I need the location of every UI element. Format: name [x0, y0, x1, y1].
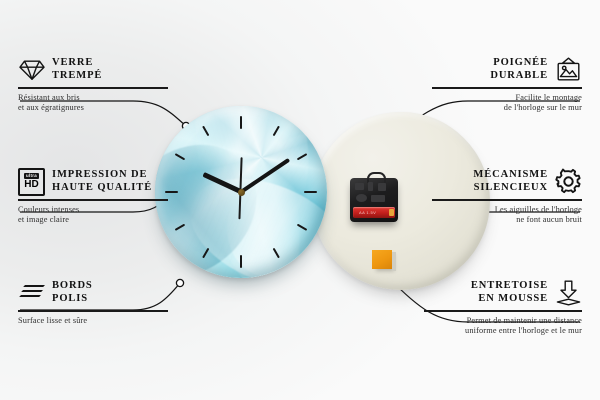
feature-divider	[432, 87, 582, 89]
feature-subtitle-line: Facilite le montage	[432, 93, 582, 103]
feature-header: BORDS POLIS	[18, 279, 168, 306]
feature-subtitle-line: Surface lisse et sûre	[18, 316, 168, 326]
gear-icon	[555, 168, 582, 195]
ultra-hd-top-label: ultra	[24, 173, 39, 178]
feature-title-line: SILENCIEUX	[473, 182, 548, 195]
feature-divider	[18, 87, 168, 89]
feature-title-line: EN MOUSSE	[471, 293, 548, 306]
feature-title: IMPRESSION DE HAUTE QUALITÉ	[52, 169, 152, 194]
feature-subtitle: Surface lisse et sûre	[18, 316, 168, 326]
feature-title: VERRE TREMPÉ	[52, 57, 102, 82]
diamond-icon	[18, 56, 45, 83]
feature-subtitle-line: ne font aucun bruit	[432, 215, 582, 225]
feature-divider	[18, 199, 168, 201]
feature-subtitle: Couleurs intenses et image claire	[18, 205, 168, 226]
feature-header: ultra HD IMPRESSION DE HAUTE QUALITÉ	[18, 168, 168, 195]
feature-title-line: DURABLE	[490, 70, 548, 83]
feature-subtitle-line: Permet de maintenir une distance	[424, 316, 582, 326]
feature-bords-polis: BORDS POLIS Surface lisse et sûre	[18, 279, 168, 326]
feature-subtitle-line: uniforme entre l'horloge et le mur	[424, 326, 582, 336]
feature-title-line: POIGNÉE	[490, 57, 548, 70]
diagonal-lines-glyph	[20, 285, 44, 299]
ultra-hd-badge: ultra HD	[18, 168, 45, 196]
feature-entretoise-en-mousse: ENTRETOISE EN MOUSSE Permet de maintenir…	[424, 279, 582, 336]
feature-subtitle-line: Résistant aux bris	[18, 93, 168, 103]
foam-spacer-side	[392, 252, 396, 271]
connector-dot-bords-polis	[176, 279, 183, 286]
feature-impression-haute-qualite: ultra HD IMPRESSION DE HAUTE QUALITÉ Cou…	[18, 168, 168, 225]
feature-header: ENTRETOISE EN MOUSSE	[424, 279, 582, 306]
mechanism-battery: AA 1.5V	[353, 207, 395, 218]
feature-title: POIGNÉE DURABLE	[490, 57, 548, 82]
clock-front-face	[155, 106, 327, 278]
hanging-picture-icon	[555, 56, 582, 83]
feature-divider	[18, 310, 168, 312]
mechanism-detail	[378, 183, 386, 191]
feature-title-line: VERRE	[52, 57, 102, 70]
feature-verre-trempe: VERRE TREMPÉ Résistant aux bris et aux é…	[18, 56, 168, 113]
mechanism-detail	[368, 182, 373, 191]
battery-terminal	[389, 209, 394, 216]
ultra-hd-icon: ultra HD	[18, 168, 45, 195]
mechanism-detail	[371, 195, 385, 202]
feature-title-line: ENTRETOISE	[471, 280, 548, 293]
feature-subtitle-line: et image claire	[18, 215, 168, 225]
feature-subtitle-line: Les aiguilles de l'horloge	[432, 205, 582, 215]
feature-subtitle-line: de l'horloge sur le mur	[432, 103, 582, 113]
feature-title: MÉCANISME SILENCIEUX	[473, 169, 548, 194]
feature-header: MÉCANISME SILENCIEUX	[432, 168, 582, 195]
clock-tick	[165, 191, 241, 193]
feature-divider	[432, 199, 582, 201]
feature-title: BORDS POLIS	[52, 280, 93, 305]
ultra-hd-main-label: HD	[24, 180, 38, 190]
feature-title-line: POLIS	[52, 293, 93, 306]
feature-title-line: HAUTE QUALITÉ	[52, 182, 152, 195]
foam-spacer	[372, 250, 392, 269]
battery-label: AA 1.5V	[359, 210, 376, 215]
feature-subtitle: Les aiguilles de l'horloge ne font aucun…	[432, 205, 582, 226]
feature-poignee-durable: POIGNÉE DURABLE Facilite le montage de l…	[432, 56, 582, 113]
infographic-canvas: AA 1.5V	[0, 0, 600, 400]
arrow-down-pad-icon	[555, 279, 582, 306]
feature-subtitle: Facilite le montage de l'horloge sur le …	[432, 93, 582, 114]
clock-tick	[241, 191, 317, 193]
feature-subtitle-line: et aux égratignures	[18, 103, 168, 113]
mechanism-detail	[356, 194, 367, 202]
clock-center-cap	[238, 189, 245, 196]
feature-subtitle: Résistant aux bris et aux égratignures	[18, 93, 168, 114]
feature-title-line: IMPRESSION DE	[52, 169, 152, 182]
feature-header: POIGNÉE DURABLE	[432, 56, 582, 83]
clock-mechanism: AA 1.5V	[350, 178, 398, 222]
feature-mecanisme-silencieux: MÉCANISME SILENCIEUX Les aiguilles de l'…	[432, 168, 582, 225]
feature-title-line: BORDS	[52, 280, 93, 293]
feature-subtitle: Permet de maintenir une distance uniform…	[424, 316, 582, 337]
feature-title-line: MÉCANISME	[473, 169, 548, 182]
feature-header: VERRE TREMPÉ	[18, 56, 168, 83]
feature-title-line: TREMPÉ	[52, 70, 102, 83]
mechanism-detail	[355, 183, 364, 190]
feature-divider	[424, 310, 582, 312]
feature-title: ENTRETOISE EN MOUSSE	[471, 280, 548, 305]
feature-subtitle-line: Couleurs intenses	[18, 205, 168, 215]
diagonal-lines-icon	[18, 279, 45, 306]
